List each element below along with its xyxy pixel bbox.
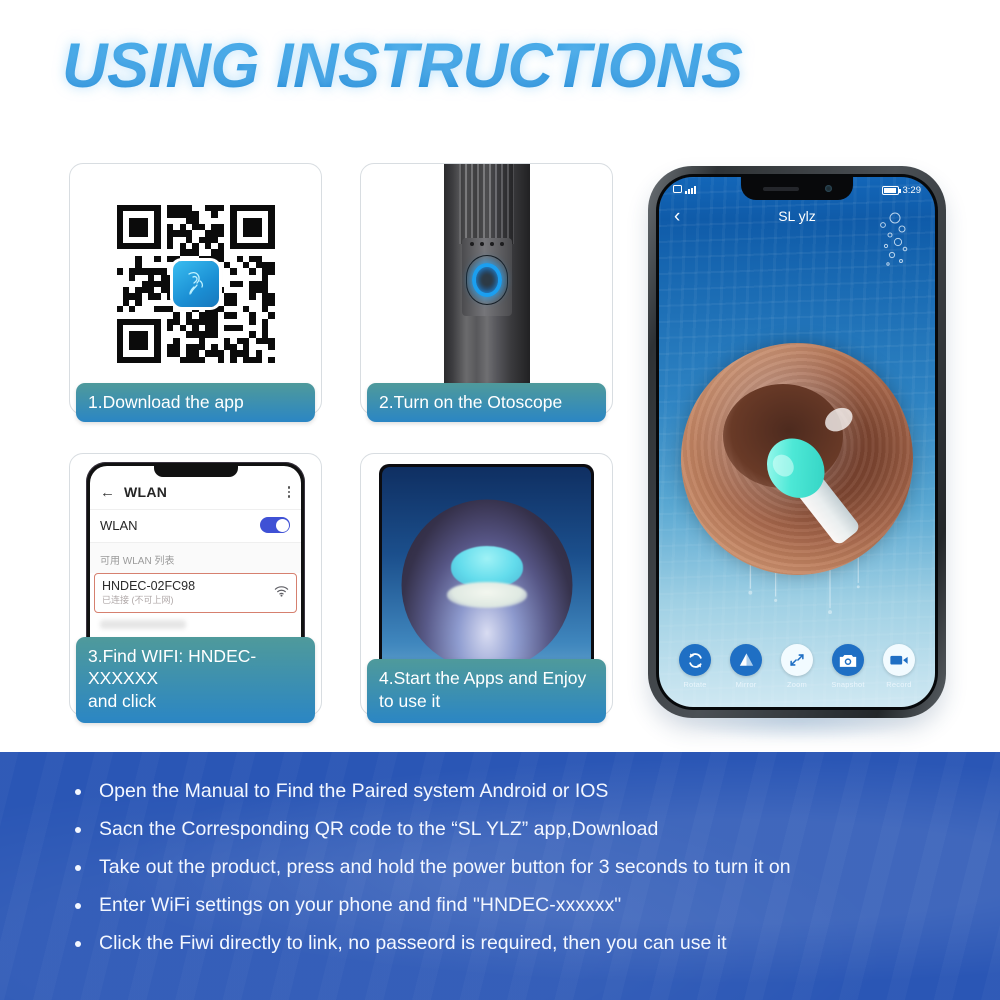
list-item: Sacn the Corresponding QR code to the “S… xyxy=(72,820,1000,840)
app-logo-icon xyxy=(173,261,219,307)
list-item: Open the Manual to Find the Paired syste… xyxy=(72,782,1000,802)
step-caption-1: 1.Download the app xyxy=(76,383,315,422)
speaker-grille xyxy=(763,187,799,191)
wlan-toggle-row[interactable]: WLAN xyxy=(90,509,301,542)
qr-code[interactable] xyxy=(117,205,275,363)
step-caption-4: 4.Start the Apps and Enjoy to use it xyxy=(367,659,606,723)
otoscope-device-body xyxy=(444,164,530,414)
wlan-phone-notch xyxy=(154,466,238,477)
instructions-list: Open the Manual to Find the Paired syste… xyxy=(0,752,1000,954)
toolbar-button-mirror[interactable]: Mirror xyxy=(725,644,767,689)
device-grip-ribs xyxy=(459,164,514,244)
power-button-icon[interactable] xyxy=(472,263,502,297)
kebab-menu-icon[interactable] xyxy=(288,486,291,498)
device-vent-dots xyxy=(470,242,504,247)
wlan-network-ssid: HNDEC-02FC98 xyxy=(102,579,195,595)
camera-icon xyxy=(832,644,864,676)
step-caption-3-line1: 3.Find WIFI: HNDEC-XXXXXX xyxy=(88,646,256,688)
otoscope-device-media xyxy=(361,164,612,414)
phone-screen: 3:29 ‹ SL ylz xyxy=(659,177,935,707)
zoom-icon xyxy=(781,644,813,676)
wlan-network-status: 已连接 (不可上网) xyxy=(102,595,195,607)
list-item: Enter WiFi settings on your phone and fi… xyxy=(72,896,1000,916)
app-title: SL ylz xyxy=(659,208,935,224)
app-bar: ‹ SL ylz xyxy=(659,203,935,229)
toolbar-label-rotate: Rotate xyxy=(674,680,716,689)
step-caption-4-line2: to use it xyxy=(379,691,440,711)
wlan-list-header: 可用 WLAN 列表 xyxy=(90,542,301,573)
phone-notch xyxy=(741,177,853,200)
wlan-toggle-switch[interactable] xyxy=(260,517,290,533)
wlan-toggle-label: WLAN xyxy=(100,518,138,533)
step-card-turn-on: 2.Turn on the Otoscope xyxy=(360,163,613,415)
scope-tip-glow xyxy=(447,582,527,608)
instructions-panel: Open the Manual to Find the Paired syste… xyxy=(0,752,1000,1000)
battery-icon xyxy=(882,186,899,195)
list-item: Take out the product, press and hold the… xyxy=(72,858,1000,878)
rotate-icon xyxy=(679,644,711,676)
list-item: Click the Fiwi directly to link, no pass… xyxy=(72,934,1000,954)
wlan-network-row-hndec[interactable]: HNDEC-02FC98 已连接 (不可上网) xyxy=(94,573,297,613)
app-toolbar: Rotate Mirror xyxy=(659,644,935,689)
mirror-icon xyxy=(730,644,762,676)
toolbar-label-mirror: Mirror xyxy=(725,680,767,689)
step-caption-4-line1: 4.Start the Apps and Enjoy xyxy=(379,668,586,688)
step-caption-3-line2: and click xyxy=(88,691,156,711)
phone-reflection xyxy=(672,716,924,742)
step-caption-3: 3.Find WIFI: HNDEC-XXXXXX and click xyxy=(76,637,315,723)
wifi-icon xyxy=(274,584,289,602)
step-card-start-apps: 4.Start the Apps and Enjoy to use it xyxy=(360,453,613,716)
message-icon xyxy=(673,185,682,196)
qr-code-media xyxy=(70,164,321,414)
status-bar-time: 3:29 xyxy=(903,185,922,196)
toolbar-label-zoom: Zoom xyxy=(776,680,818,689)
step-caption-2: 2.Turn on the Otoscope xyxy=(367,383,606,422)
toolbar-button-snapshot[interactable]: Snapshot xyxy=(827,644,869,689)
phone-device: 3:29 ‹ SL ylz xyxy=(648,166,946,718)
step-card-find-wifi: ← WLAN WLAN 可用 WLAN 列表 HNDEC-02FC98 xyxy=(69,453,322,716)
toolbar-button-rotate[interactable]: Rotate xyxy=(674,644,716,689)
toolbar-button-zoom[interactable]: Zoom xyxy=(776,644,818,689)
toolbar-label-record: Record xyxy=(878,680,920,689)
video-icon xyxy=(883,644,915,676)
wlan-page-title: WLAN xyxy=(124,484,167,500)
toolbar-label-snapshot: Snapshot xyxy=(827,680,869,689)
signal-bars-icon xyxy=(685,186,696,194)
arrow-left-icon[interactable]: ← xyxy=(100,485,115,500)
front-camera-icon xyxy=(825,185,832,192)
step-card-download-app: 1.Download the app xyxy=(69,163,322,415)
toolbar-button-record[interactable]: Record xyxy=(878,644,920,689)
